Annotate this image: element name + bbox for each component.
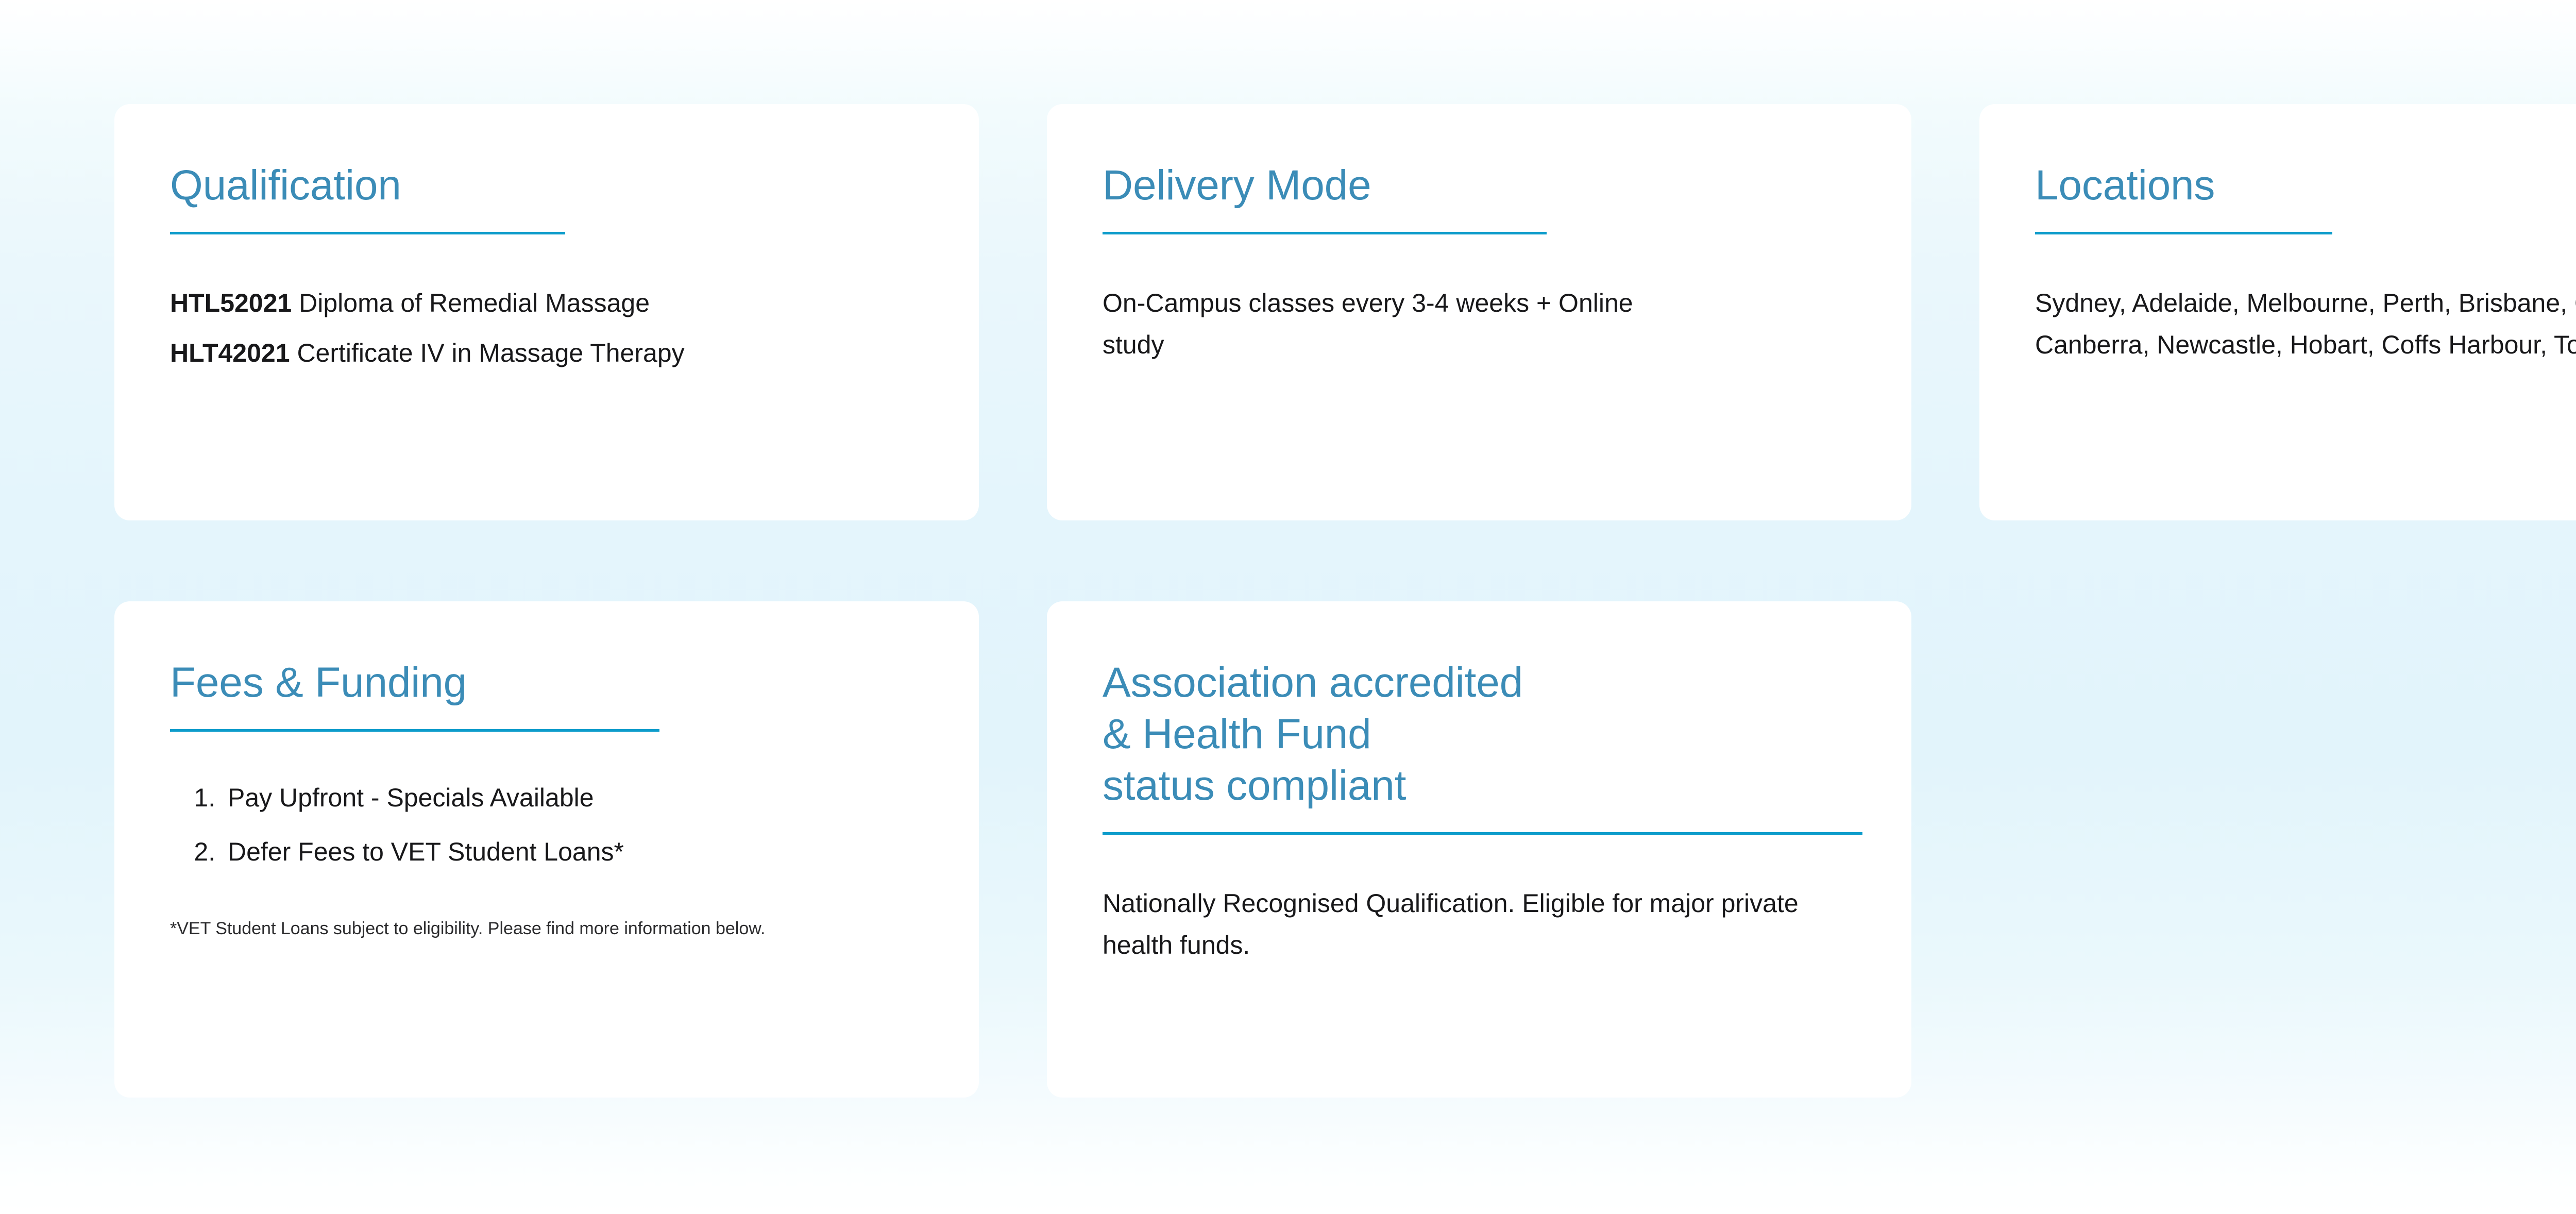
title-underline-locations [2035,232,2332,234]
title-underline-qualification [170,232,565,234]
title-underline-fees-funding [170,729,659,732]
locations-body: Sydney, Adelaide, Melbourne, Perth, Bris… [2035,282,2576,366]
qualification-name: Diploma of Remedial Massage [299,289,650,317]
title-underline-association-accredited [1103,832,1862,835]
card-qualification: Qualification HTL52021 Diploma of Remedi… [114,104,979,520]
qualification-item: HLT42021 Certificate IV in Massage Thera… [170,332,922,374]
card-association-accredited: Association accredited & Health Fund sta… [1047,601,1911,1098]
delivery-mode-body: On-Campus classes every 3-4 weeks + Onli… [1103,282,1638,366]
card-fees-funding: Fees & Funding Pay Upfront - Specials Av… [114,601,979,1098]
title-underline-delivery-mode [1103,232,1547,234]
qualification-code: HTL52021 [170,289,292,317]
card-title-association-accredited: Association accredited & Health Fund sta… [1103,657,1855,812]
info-card-grid: Qualification HTL52021 Diploma of Remedi… [114,104,2576,1098]
card-title-qualification: Qualification [170,160,922,211]
fees-option-item: Defer Fees to VET Student Loans* [223,831,922,873]
qualification-list: HTL52021 Diploma of Remedial Massage HLT… [170,282,922,374]
card-title-locations: Locations [2035,160,2576,211]
fees-option-item: Pay Upfront - Specials Available [223,777,922,819]
card-delivery-mode: Delivery Mode On-Campus classes every 3-… [1047,104,1911,520]
fees-footnote: *VET Student Loans subject to eligibilit… [170,916,804,941]
card-title-delivery-mode: Delivery Mode [1103,160,1855,211]
qualification-name: Certificate IV in Massage Therapy [297,339,684,367]
fees-options: Pay Upfront - Specials Available Defer F… [170,777,922,873]
association-body: Nationally Recognised Qualification. Eli… [1103,883,1855,966]
qualification-code: HLT42021 [170,339,290,367]
qualification-item: HTL52021 Diploma of Remedial Massage [170,282,922,324]
page-background: Qualification HTL52021 Diploma of Remedi… [0,0,2576,1214]
card-locations: Locations Sydney, Adelaide, Melbourne, P… [1979,104,2576,520]
card-title-fees-funding: Fees & Funding [170,657,922,709]
empty-grid-cell [1979,601,2576,1098]
